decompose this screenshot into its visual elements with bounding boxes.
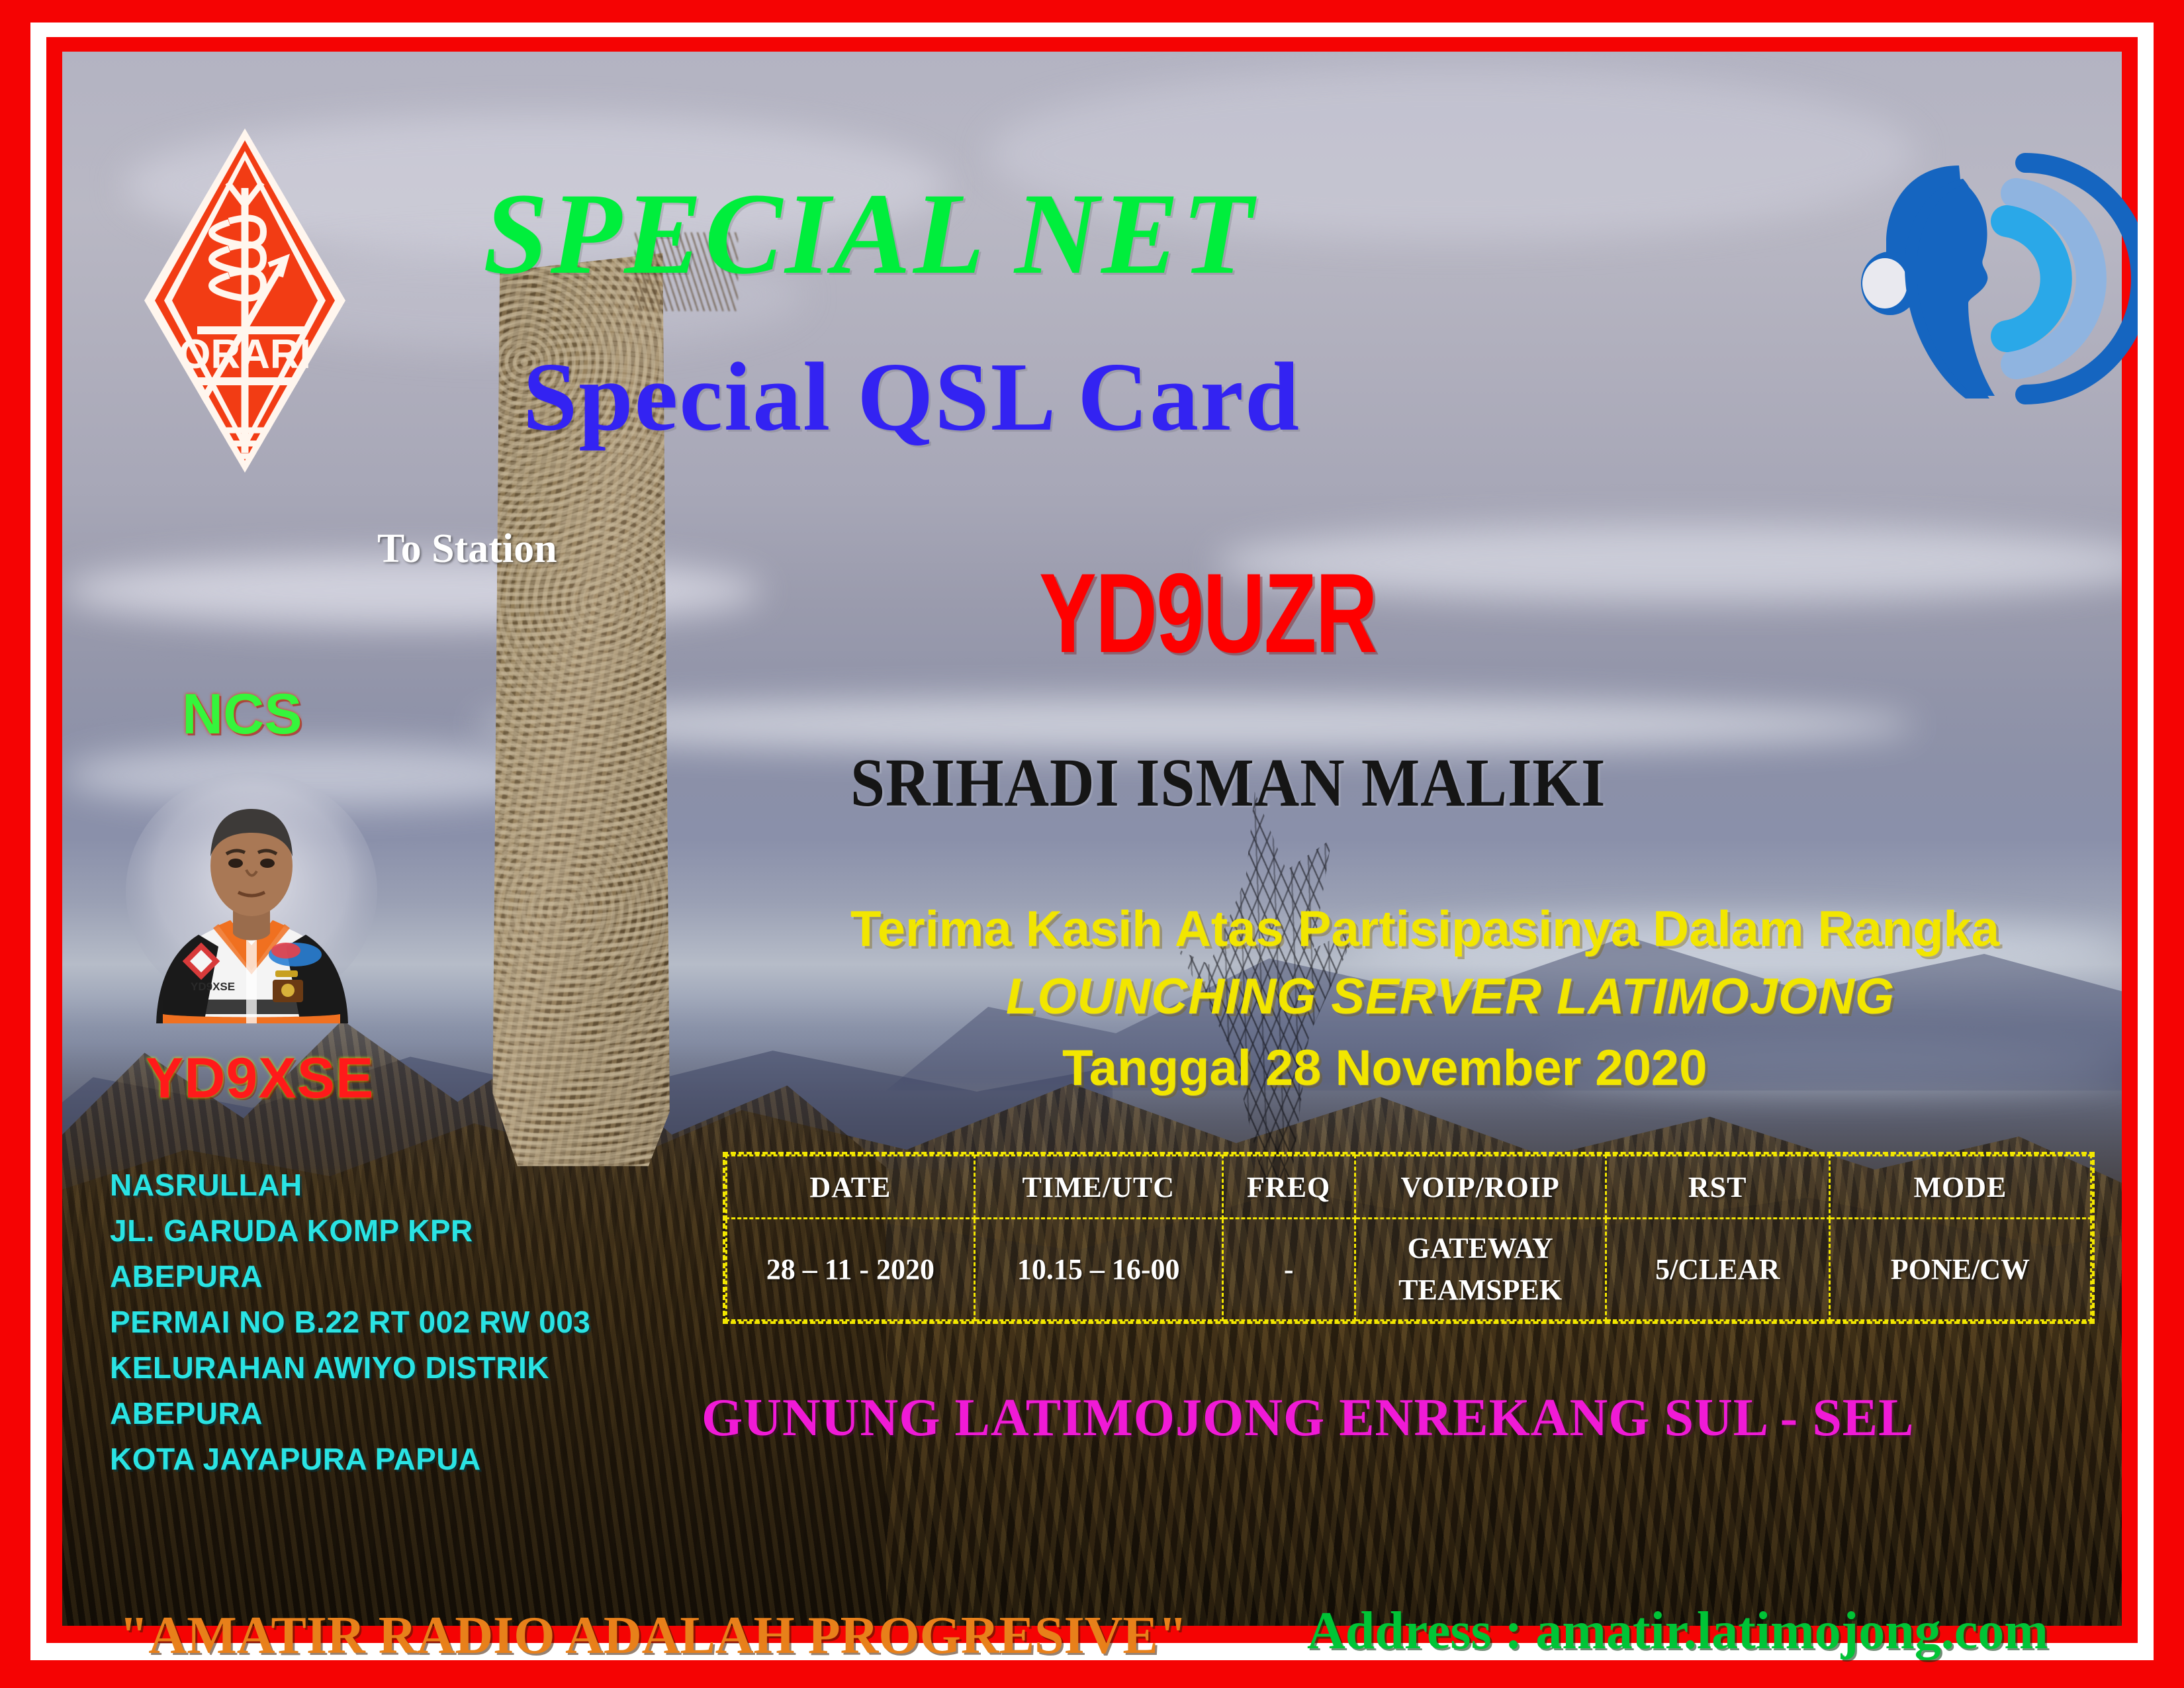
to-station-label: To Station [377, 528, 557, 569]
column-header-voip: VOIP/ROIP [1355, 1156, 1606, 1219]
ncs-callsign: YD9XSE [146, 1050, 374, 1107]
column-header-mode: MODE [1829, 1156, 2091, 1219]
cell-date: 28 – 11 - 2020 [727, 1219, 975, 1321]
address-line: JL. GARUDA KOMP KPR [110, 1208, 705, 1254]
thanks-line-2: LOUNCHING SERVER LATIMOJONG [1006, 972, 1895, 1022]
white-frame-border: ORARI [30, 23, 2154, 1660]
cell-voip-line-2: TEAMSPEK [1357, 1270, 1604, 1311]
location-line: GUNUNG LATIMOJONG ENREKANG SUL - SEL [702, 1391, 1915, 1444]
qso-details-table: DATE TIME/UTC FREQ VOIP/ROIP RST MODE 28… [723, 1152, 2095, 1324]
address-line: KOTA JAYAPURA PAPUA [110, 1436, 705, 1482]
orari-logo-text: ORARI [179, 332, 311, 377]
cell-mode: PONE/CW [1829, 1219, 2091, 1321]
address-line: ABEPURA [110, 1254, 705, 1299]
ncs-label: NCS [182, 686, 302, 743]
address-line: ABEPURA [110, 1391, 705, 1436]
slogan-text: "AMATIR RADIO ADALAH PROGRESIVE" [119, 1609, 1187, 1662]
column-header-time: TIME/UTC [974, 1156, 1222, 1219]
address-line: KELURAHAN AWIYO DISTRIK [110, 1345, 705, 1391]
cell-freq: - [1222, 1219, 1355, 1321]
cell-rst: 5/CLEAR [1606, 1219, 1829, 1321]
page-subtitle: Special QSL Card [523, 348, 1300, 446]
address-line: NASRULLAH [110, 1162, 705, 1208]
qsl-card: ORARI [0, 0, 2184, 1688]
thanks-line-3: Tanggal 28 November 2020 [1062, 1043, 1707, 1094]
thanks-line-1: Terima Kasih Atas Partisipasinya Dalam R… [850, 904, 1999, 955]
address-line: PERMAI NO B.22 RT 002 RW 003 [110, 1299, 705, 1345]
ncs-operator-photo: YD9XSE [119, 772, 384, 1023]
table-header-row: DATE TIME/UTC FREQ VOIP/ROIP RST MODE [727, 1156, 2091, 1219]
column-header-rst: RST [1606, 1156, 1829, 1219]
cell-time: 10.15 – 16-00 [974, 1219, 1222, 1321]
table-row: 28 – 11 - 2020 10.15 – 16-00 - GATEWAY T… [727, 1219, 2091, 1321]
column-header-date: DATE [727, 1156, 975, 1219]
shirt-callsign-text: YD9XSE [191, 980, 235, 993]
orari-diamond-logo: ORARI [139, 122, 351, 479]
page-title: SPECIAL NET [483, 176, 1255, 293]
column-header-freq: FREQ [1222, 1156, 1355, 1219]
headset-profile-logo [1860, 136, 2138, 421]
recipient-address: NASRULLAH JL. GARUDA KOMP KPR ABEPURA PE… [110, 1162, 705, 1482]
operator-name: SRIHADI ISMAN MALIKI [850, 749, 1606, 818]
cell-voip: GATEWAY TEAMSPEK [1355, 1219, 1606, 1321]
inner-red-border: ORARI [46, 37, 2138, 1643]
cell-voip-line-1: GATEWAY [1357, 1228, 1604, 1269]
web-address-text: Address : amatir.latimojong.com [1307, 1605, 2048, 1658]
station-callsign: YD9UZR [1039, 557, 1377, 670]
